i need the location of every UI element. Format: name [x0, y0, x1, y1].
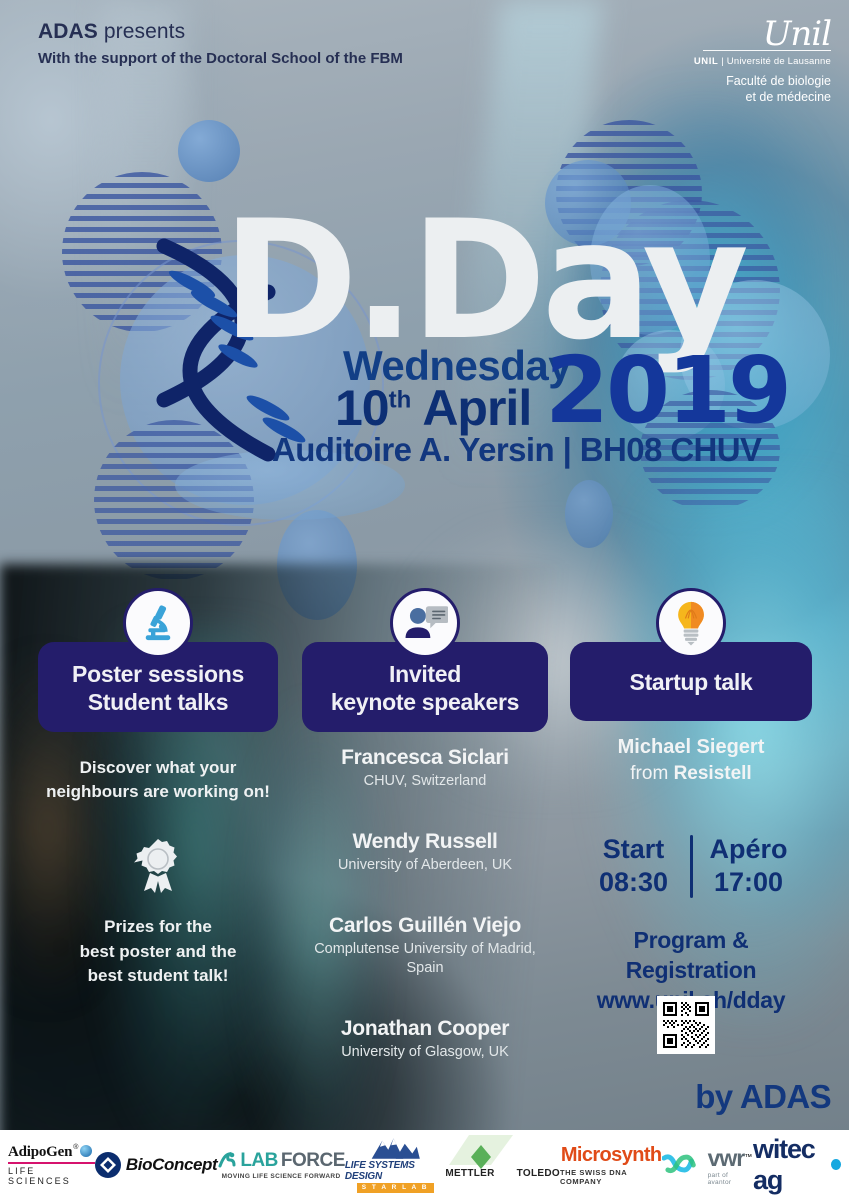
event-times: Start 08:30 Apéro 17:00 [570, 833, 812, 901]
sponsor-vwr-sub: part of avantor [708, 1172, 753, 1186]
sponsor-mettler-name1: METTLER [445, 1168, 494, 1179]
lightbulb-glyph [672, 600, 710, 646]
poster-blurb-line2: neighbours are working on! [38, 780, 278, 803]
award-ribbon-icon [134, 837, 182, 893]
registration-heading: Program & Registration [570, 926, 812, 986]
event-venue: Auditoire A. Yersin | BH08 CHUV [272, 433, 761, 466]
lightbulb-icon [656, 588, 726, 658]
bioconcept-diamond-icon [95, 1152, 121, 1178]
speaker-affiliation: University of Aberdeen, UK [302, 856, 548, 875]
support-line: With the support of the Doctoral School … [38, 50, 403, 67]
sponsor-mettler-toledo: METTLER TOLEDO [445, 1137, 560, 1193]
sponsor-adipogen-dot-icon [80, 1145, 92, 1157]
sponsor-lsd-name: LIFE SYSTEMS DESIGN [345, 1160, 445, 1182]
presenter-suffix: presents [98, 20, 185, 43]
speaker-name: Carlos Guillén Viejo [302, 913, 548, 938]
sponsor-microsynth: Microsynth THE SWISS DNA COMPANY [560, 1137, 662, 1193]
speaker-item: Wendy Russell University of Aberdeen, UK [302, 829, 548, 875]
unil-wordmark: Unil [669, 14, 831, 54]
time-apero: Apéro 17:00 [703, 833, 795, 901]
poster-blurb-line1: Discover what your [38, 756, 278, 779]
qr-code-glyph [661, 1000, 711, 1050]
unil-name: Université de Lausanne [727, 56, 831, 67]
sponsor-adipogen: AdipoGen ® LIFE SCIENCES [8, 1137, 95, 1193]
prize-text: Prizes for the best poster and the best … [38, 915, 278, 989]
sponsor-bioconcept-name: BioConcept [126, 1155, 217, 1175]
column-keynote-speakers: Invited keynote speakers Francesca Sicla… [302, 588, 548, 1083]
labforce-mark-icon [217, 1151, 237, 1171]
poster-blurb: Discover what your neighbours are workin… [38, 756, 278, 803]
sponsor-microsynth-name: Microsynth [561, 1144, 662, 1167]
time-start-value: 08:30 [588, 866, 680, 900]
sponsor-vwr: vwr™ part of avantor [662, 1137, 753, 1193]
speaker-person-glyph [402, 602, 448, 644]
badge-line-1: Invited [310, 660, 540, 688]
unil-institution: UNIL | Université de Lausanne [669, 56, 831, 68]
badge-line-2: Student talks [46, 688, 270, 716]
sponsor-adipogen-reg: ® [73, 1144, 78, 1151]
speaker-item: Jonathan Cooper University of Glasgow, U… [302, 1016, 548, 1062]
unil-faculty: Faculté de biologie et de médecine [669, 73, 831, 106]
speaker-name: Francesca Siclari [302, 745, 548, 770]
header-presenter: ADAS presents With the support of the Do… [38, 20, 403, 67]
vwr-wave-icon [662, 1152, 701, 1178]
sponsor-lsd-badge: S T A R L A B [357, 1183, 434, 1193]
startup-speaker: Michael Siegert from Resistell [570, 735, 812, 787]
startup-from-prefix: from [630, 763, 673, 784]
badge-line-2: keynote speakers [310, 688, 540, 716]
sponsor-labforce: LABFORCE MOVING LIFE SCIENCE FORWARD [217, 1137, 345, 1193]
sponsor-labforce-sub: MOVING LIFE SCIENCE FORWARD [222, 1173, 341, 1180]
speaker-name: Wendy Russell [302, 829, 548, 854]
sponsor-adipogen-sub: LIFE SCIENCES [8, 1166, 95, 1186]
time-start: Start 08:30 [588, 833, 680, 901]
unil-sep: | [718, 56, 726, 67]
sponsor-mettler-name2: TOLEDO [517, 1168, 560, 1179]
badge-line-1: Poster sessions [46, 660, 270, 688]
sponsor-vwr-tm: ™ [744, 1152, 752, 1161]
prize-line3: best student talk! [38, 964, 278, 989]
time-apero-label: Apéro [703, 833, 795, 867]
sponsor-bar: AdipoGen ® LIFE SCIENCES BioConcept LAB [0, 1130, 849, 1200]
column-poster-sessions: Poster sessions Student talks Discover w… [38, 588, 278, 989]
mountains-icon [362, 1137, 428, 1160]
column-startup-talk: Startup talk Michael Siegert from Resist… [570, 588, 812, 1016]
presenter-name: ADAS [38, 20, 98, 43]
unil-abbr: UNIL [694, 56, 719, 67]
speaker-affiliation: CHUV, Switzerland [302, 772, 548, 791]
solid-circle-1 [178, 120, 240, 182]
speaker-item: Carlos Guillén Viejo Complutense Univers… [302, 913, 548, 978]
microscope-icon [123, 588, 193, 658]
speaker-item: Francesca Siclari CHUV, Switzerland [302, 745, 548, 791]
startup-company-line: from Resistell [570, 762, 812, 787]
speaker-name: Jonathan Cooper [302, 1016, 548, 1041]
microscope-glyph [137, 602, 179, 644]
sponsor-vwr-name: vwr [708, 1145, 745, 1171]
event-date: 10th April [335, 383, 531, 433]
time-apero-value: 17:00 [703, 866, 795, 900]
poster: ADAS presents With the support of the Do… [0, 0, 849, 1200]
sponsor-bioconcept: BioConcept [95, 1137, 217, 1193]
sponsor-witec-ag: witec ag [753, 1137, 841, 1193]
event-month: April [411, 380, 531, 436]
startup-speaker-name: Michael Siegert [570, 735, 812, 760]
event-day: 10 [335, 380, 389, 436]
sponsor-witec-name: witec ag [753, 1134, 843, 1196]
sponsor-labforce-name2: FORCE [281, 1150, 345, 1172]
qr-code[interactable] [657, 996, 715, 1054]
time-start-label: Start [588, 833, 680, 867]
speaker-person-icon [390, 588, 460, 658]
badge-line-1: Startup talk [578, 668, 804, 696]
event-year: 2019 [545, 345, 789, 437]
title-block: D.Day Wednesday 10th April 2019 Auditoir… [0, 205, 849, 490]
prize-line2: best poster and the [38, 940, 278, 965]
by-adas-credit: by ADAS [695, 1078, 831, 1116]
unil-faculty-line2: et de médecine [669, 89, 831, 106]
sponsor-adipogen-name: AdipoGen [8, 1144, 72, 1161]
speaker-affiliation: Complutense University of Madrid, Spain [302, 940, 548, 978]
event-day-suffix: th [389, 386, 412, 413]
sponsor-microsynth-sub: THE SWISS DNA COMPANY [560, 1168, 662, 1186]
speaker-affiliation: University of Glasgow, UK [302, 1043, 548, 1062]
startup-company: Resistell [674, 763, 752, 784]
sponsor-labforce-name1: LAB [240, 1150, 278, 1172]
witec-dot-icon [831, 1159, 841, 1170]
sponsor-life-systems-design: LIFE SYSTEMS DESIGN S T A R L A B [345, 1137, 445, 1193]
unil-logo: Unil UNIL | Université de Lausanne Facul… [669, 14, 831, 106]
unil-faculty-line1: Faculté de biologie [669, 73, 831, 90]
sponsor-adipogen-rule [8, 1162, 95, 1164]
time-divider [690, 835, 693, 899]
prize-line1: Prizes for the [38, 915, 278, 940]
